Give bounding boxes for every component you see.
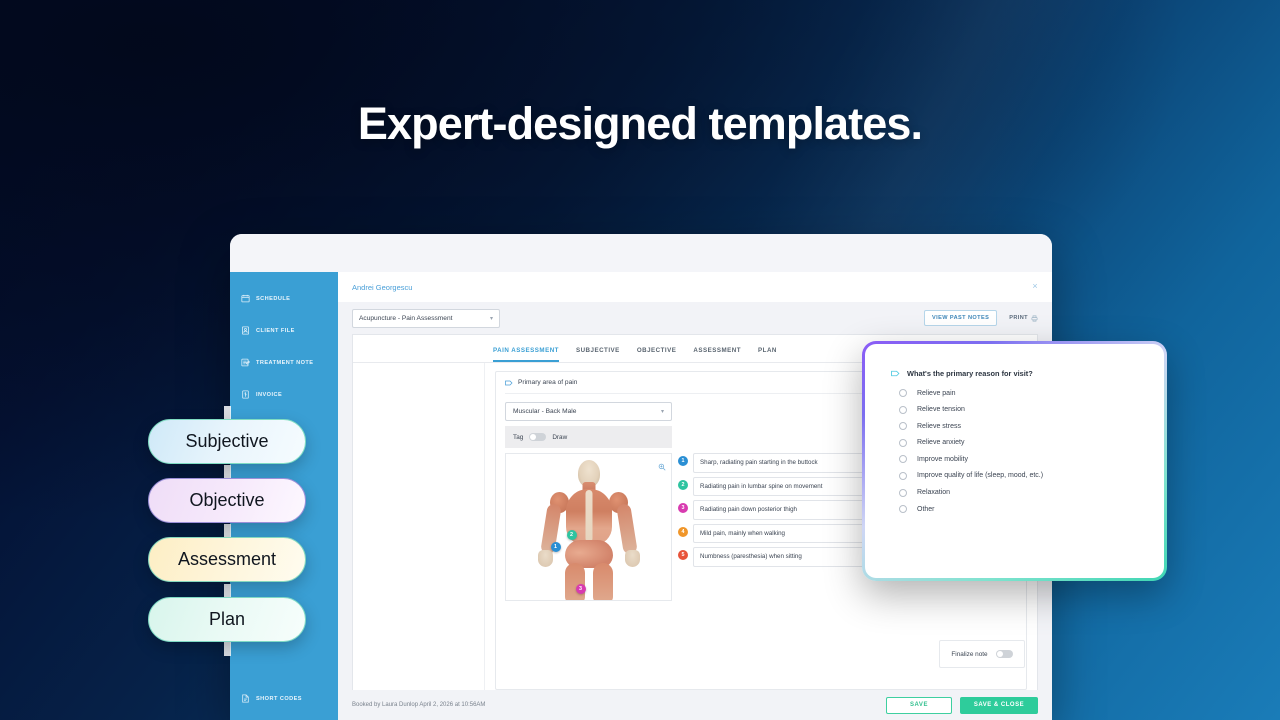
tab-pain-assessment[interactable]: PAIN ASSESSMENT (493, 347, 559, 362)
option-label: Relieve stress (917, 423, 961, 430)
tab-objective[interactable]: OBJECTIVE (637, 347, 677, 362)
sidebar-bottom: SHORT CODES (230, 689, 338, 708)
finalize-note-toggle[interactable] (996, 650, 1013, 658)
option-label: Relieve tension (917, 406, 965, 413)
tab-assessment[interactable]: ASSESSMENT (693, 347, 741, 362)
treatment-note-icon (241, 358, 250, 367)
body-marker-3[interactable]: 3 (576, 584, 586, 594)
print-label: PRINT (1009, 315, 1028, 321)
sidebar-item-schedule[interactable]: SCHEDULE (230, 289, 338, 308)
sidebar-item-client-file[interactable]: CLIENT FILE (230, 321, 338, 340)
option-row[interactable]: Relaxation (891, 489, 1138, 497)
tag-mode-label: Tag (513, 434, 523, 441)
option-label: Relieve anxiety (917, 439, 964, 446)
invoice-icon (241, 390, 250, 399)
print-icon (1031, 315, 1038, 322)
option-label: Relieve pain (917, 390, 956, 397)
section-title: Primary area of pain (518, 379, 577, 386)
radio-icon[interactable] (899, 422, 907, 430)
option-row[interactable]: Relieve tension (891, 406, 1138, 414)
radio-icon[interactable] (899, 406, 907, 414)
question-title: What's the primary reason for visit? (907, 369, 1033, 378)
draw-mode-label: Draw (552, 434, 567, 441)
note-toolbar: Acupuncture - Pain Assessment ▾ VIEW PAS… (338, 302, 1052, 334)
option-row[interactable]: Improve mobility (891, 455, 1138, 463)
client-name-link[interactable]: Andrei Georgescu (352, 283, 412, 292)
tag-icon (505, 380, 513, 386)
soap-pill-objective[interactable]: Objective (148, 478, 306, 523)
zoom-in-icon[interactable] (658, 458, 666, 466)
view-past-notes-button[interactable]: VIEW PAST NOTES (924, 310, 997, 326)
note-footer: Booked by Laura Dunlop April 2, 2026 at … (338, 690, 1052, 720)
tab-subjective[interactable]: SUBJECTIVE (576, 347, 620, 362)
question-title-row: What's the primary reason for visit? (891, 369, 1138, 378)
sidebar-item-treatment-note[interactable]: TREATMENT NOTE (230, 353, 338, 372)
chevron-down-icon: ▾ (661, 408, 664, 415)
pain-entry-number: 3 (678, 503, 688, 513)
calendar-icon (241, 294, 250, 303)
body-chart-select[interactable]: Muscular - Back Male ▾ (505, 402, 672, 421)
finalize-note-row: Finalize note (939, 640, 1025, 668)
save-button[interactable]: SAVE (886, 697, 952, 714)
soap-pill-plan[interactable]: Plan (148, 597, 306, 642)
footer-actions: SAVE SAVE & CLOSE (886, 697, 1038, 714)
sidebar-item-short-codes[interactable]: SHORT CODES (230, 689, 338, 708)
template-select[interactable]: Acupuncture - Pain Assessment ▾ (352, 309, 500, 328)
sidebar-item-label: SHORT CODES (256, 696, 302, 702)
pain-entry-number: 5 (678, 550, 688, 560)
radio-icon[interactable] (899, 489, 907, 497)
soap-pill-assessment[interactable]: Assessment (148, 537, 306, 582)
primary-reason-card-inner: What's the primary reason for visit? Rel… (865, 344, 1164, 578)
client-header: Andrei Georgescu × (338, 272, 1052, 302)
option-label: Other (917, 506, 935, 513)
body-chart-value: Muscular - Back Male (513, 408, 576, 415)
option-label: Relaxation (917, 489, 950, 496)
radio-icon[interactable] (899, 455, 907, 463)
option-row[interactable]: Other (891, 505, 1138, 513)
radio-icon[interactable] (899, 505, 907, 513)
pain-entry-number: 4 (678, 527, 688, 537)
client-file-icon (241, 326, 250, 335)
print-button[interactable]: PRINT (1009, 315, 1038, 322)
body-marker-2[interactable]: 2 (567, 530, 577, 540)
radio-icon[interactable] (899, 439, 907, 447)
chevron-down-icon: ▾ (490, 315, 493, 322)
anatomical-figure: 1 2 3 (534, 460, 644, 600)
sidebar-item-label: SCHEDULE (256, 296, 290, 302)
sidebar-item-label: CLIENT FILE (256, 328, 295, 334)
sidebar-item-label: INVOICE (256, 392, 282, 398)
toolbar-actions: VIEW PAST NOTES PRINT (924, 310, 1038, 326)
tag-icon (891, 370, 900, 377)
body-marker-1[interactable]: 1 (551, 542, 561, 552)
radio-icon[interactable] (899, 472, 907, 480)
pain-entry-number: 2 (678, 480, 688, 490)
option-label: Improve mobility (917, 456, 968, 463)
save-and-close-button[interactable]: SAVE & CLOSE (960, 697, 1038, 714)
finalize-note-label: Finalize note (951, 651, 987, 658)
tag-draw-toggle[interactable] (529, 433, 546, 441)
pill-connector (224, 465, 231, 479)
booked-by-text: Booked by Laura Dunlop April 2, 2026 at … (352, 702, 485, 708)
window-titlebar (230, 234, 1052, 272)
primary-reason-card: What's the primary reason for visit? Rel… (862, 341, 1167, 581)
note-left-gutter (353, 363, 485, 690)
sidebar-item-invoice[interactable]: INVOICE (230, 385, 338, 404)
tag-draw-toggle-row: Tag Draw (505, 426, 672, 448)
sidebar-item-label: TREATMENT NOTE (256, 360, 313, 366)
option-row[interactable]: Relieve anxiety (891, 439, 1138, 447)
option-row[interactable]: Relieve stress (891, 422, 1138, 430)
pill-connector (224, 642, 231, 656)
option-label: Improve quality of life (sleep, mood, et… (917, 472, 1043, 479)
radio-icon[interactable] (899, 389, 907, 397)
pill-connector (224, 584, 231, 598)
soap-pill-subjective[interactable]: Subjective (148, 419, 306, 464)
short-codes-icon (241, 694, 250, 703)
body-chart-figure[interactable]: 1 2 3 (505, 453, 672, 601)
close-icon[interactable]: × (1030, 281, 1040, 291)
option-row[interactable]: Relieve pain (891, 389, 1138, 397)
template-select-value: Acupuncture - Pain Assessment (359, 315, 452, 322)
pill-connector (224, 406, 231, 420)
tab-plan[interactable]: PLAN (758, 347, 777, 362)
pill-connector (224, 524, 231, 538)
page-headline: Expert-designed templates. (0, 98, 1280, 150)
option-row[interactable]: Improve quality of life (sleep, mood, et… (891, 472, 1138, 480)
pain-entry-number: 1 (678, 456, 688, 466)
